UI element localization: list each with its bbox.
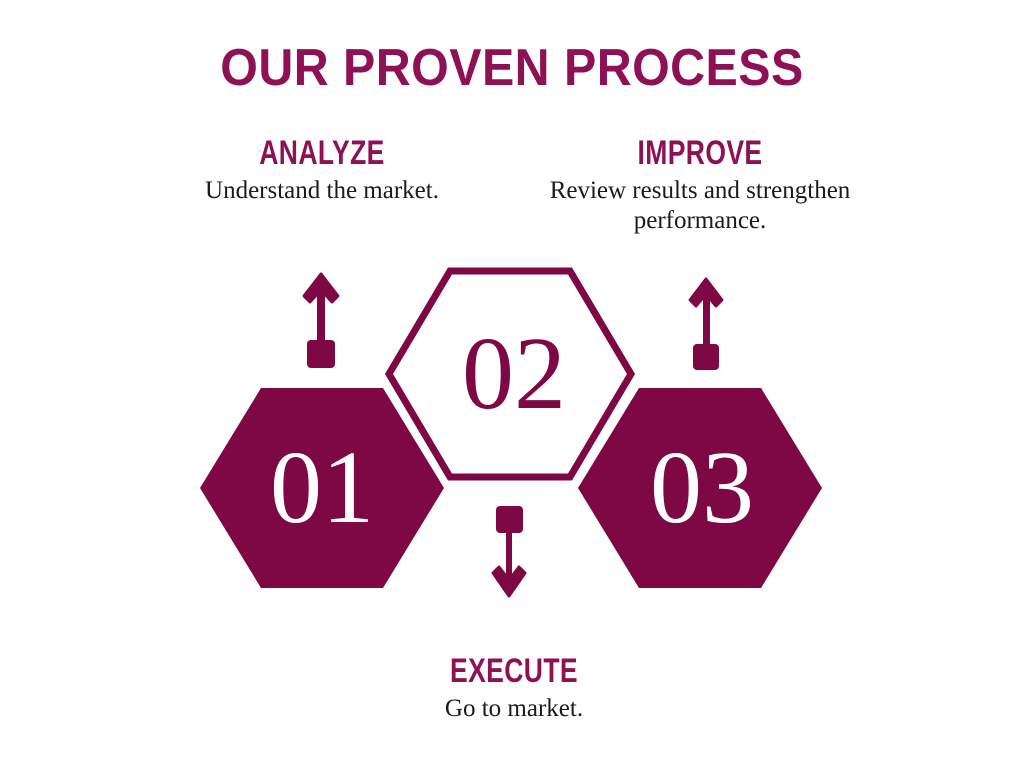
hexagon-number-02: 02	[424, 322, 604, 426]
connector-arrow-up-right	[690, 279, 722, 370]
connector-arrow-down-center	[493, 506, 525, 596]
process-infographic: OUR PROVEN PROCESS 01 02 03	[0, 0, 1024, 768]
step-body-execute: Go to market.	[388, 694, 640, 724]
step-text-analyze: ANALYZE Understand the market.	[168, 134, 476, 206]
step-heading-execute: EXECUTE	[416, 652, 613, 690]
step-text-improve: IMPROVE Review results and strengthen pe…	[545, 134, 855, 236]
step-text-execute: EXECUTE Go to market.	[388, 652, 640, 724]
hexagon-number-03: 03	[612, 436, 792, 540]
step-heading-analyze: ANALYZE	[202, 134, 442, 172]
step-heading-improve: IMPROVE	[579, 134, 821, 172]
step-body-improve: Review results and strengthen performanc…	[545, 176, 855, 236]
hexagon-number-01: 01	[232, 436, 412, 540]
step-body-analyze: Understand the market.	[168, 176, 476, 206]
connector-arrow-up-left	[304, 274, 338, 368]
